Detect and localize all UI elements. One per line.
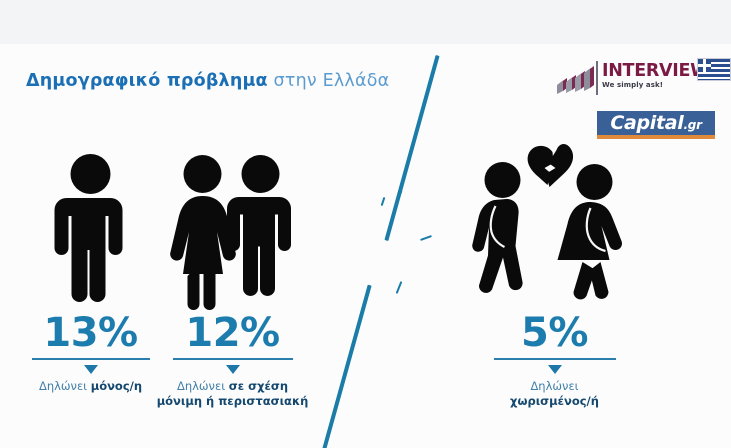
couple-icon bbox=[150, 150, 315, 310]
greek-flag-icon bbox=[697, 58, 731, 81]
stat-percent-couple: 12% bbox=[150, 310, 315, 356]
interview-logo-text: INTERVIEW We simply ask! bbox=[602, 61, 706, 90]
interview-logo-tagline: We simply ask! bbox=[602, 81, 706, 90]
stat-caption-couple: Δηλώνει σε σχέση μόνιμη ή περιστασιακή bbox=[150, 379, 315, 409]
stat-caption-single-normal: Δηλώνει bbox=[39, 379, 91, 393]
single-person-icon bbox=[8, 150, 173, 310]
infographic-canvas: Δημογραφικό πρόβλημα στην Ελλάδα INTERVI… bbox=[0, 0, 731, 448]
page-title-bold: Δημογραφικό πρόβλημα bbox=[26, 71, 268, 91]
stat-caption-separated: Δηλώνει χωρισμένος/ή bbox=[462, 379, 647, 409]
stat-arrow-single bbox=[84, 365, 98, 374]
stat-rule-single bbox=[32, 358, 150, 360]
interview-logo[interactable]: INTERVIEW We simply ask! bbox=[556, 61, 704, 99]
stat-caption-couple-bold1: σε σχέση bbox=[229, 379, 288, 393]
stat-block-single: 13% Δηλώνει μόνος/η bbox=[8, 150, 173, 394]
flag-cross-horizontal bbox=[698, 64, 711, 67]
stat-percent-separated: 5% bbox=[462, 310, 647, 356]
stat-percent-single: 13% bbox=[8, 310, 173, 356]
stat-caption-single: Δηλώνει μόνος/η bbox=[8, 379, 173, 394]
page-title: Δημογραφικό πρόβλημα στην Ελλάδα bbox=[26, 71, 389, 91]
stat-caption-single-bold: μόνος/η bbox=[91, 379, 142, 393]
capital-gr-name: Capital bbox=[610, 112, 683, 134]
interview-logo-divider bbox=[596, 61, 598, 95]
stat-caption-couple-bold2: μόνιμη ή περιστασιακή bbox=[157, 394, 309, 408]
stat-caption-separated-normal: Δηλώνει bbox=[530, 379, 578, 393]
stat-rule-separated bbox=[494, 358, 616, 360]
page-title-light: στην Ελλάδα bbox=[268, 71, 390, 91]
bar-chart-3d-icon bbox=[556, 63, 596, 97]
stat-block-separated: 5% Δηλώνει χωρισμένος/ή bbox=[462, 140, 647, 409]
interview-logo-name: INTERVIEW bbox=[602, 61, 706, 81]
stat-caption-couple-normal: Δηλώνει bbox=[177, 379, 229, 393]
top-band bbox=[0, 0, 731, 44]
capital-gr-suffix: .gr bbox=[684, 118, 702, 132]
stat-rule-couple bbox=[173, 358, 293, 360]
stat-arrow-separated bbox=[548, 365, 562, 374]
stat-arrow-couple bbox=[226, 365, 240, 374]
broken-heart-couple-icon bbox=[462, 140, 647, 310]
capital-gr-logo[interactable]: Capital.gr bbox=[597, 111, 715, 139]
capital-gr-accent-bar bbox=[597, 135, 715, 139]
capital-gr-logo-text: Capital.gr bbox=[597, 111, 715, 135]
stat-caption-separated-bold: χωρισμένος/ή bbox=[510, 394, 599, 408]
stat-block-couple: 12% Δηλώνει σε σχέση μόνιμη ή περιστασια… bbox=[150, 150, 315, 409]
